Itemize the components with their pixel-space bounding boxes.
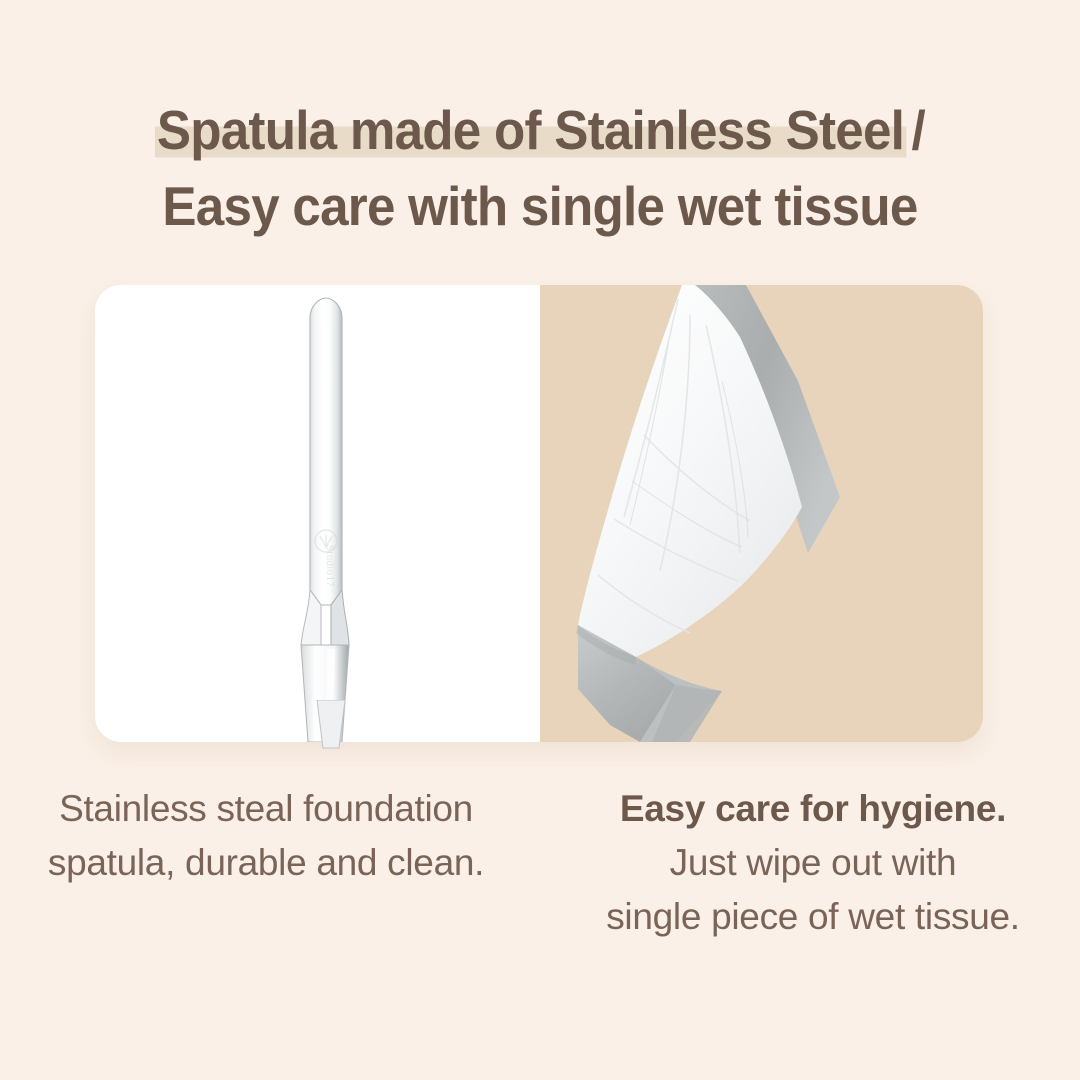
caption-left-line-2: spatula, durable and clean. (0, 836, 540, 890)
caption-left: Stainless steal foundation spatula, dura… (0, 782, 540, 944)
caption-right-line-2: single piece of wet tissue. (540, 890, 1080, 944)
engraved-brand-logo: Studio17 (307, 530, 353, 592)
headline-line-2: Easy care with single wet tissue (38, 168, 1042, 244)
product-cards-row: Studio17 (95, 285, 983, 742)
headline-highlight-text: Spatula made of Stainless Steel (155, 99, 906, 161)
spatula-image (95, 285, 540, 742)
caption-left-line-1: Stainless steal foundation (0, 782, 540, 836)
caption-right-line-1: Just wipe out with (540, 836, 1080, 890)
caption-right: Easy care for hygiene. Just wipe out wit… (540, 782, 1080, 944)
caption-row: Stainless steal foundation spatula, dura… (0, 782, 1080, 944)
headline-slash: / (906, 99, 925, 161)
page-headline: Spatula made of Stainless Steel/ Easy ca… (0, 92, 1080, 244)
headline-line-1: Spatula made of Stainless Steel/ (38, 92, 1042, 168)
spatula-handle (301, 645, 349, 742)
card-spatula: Studio17 (95, 285, 540, 742)
caption-right-heading: Easy care for hygiene. (540, 782, 1080, 836)
card-wet-tissue (540, 285, 983, 742)
engraved-brand-text: Studio17 (324, 533, 336, 599)
wet-tissue-image (540, 285, 983, 742)
